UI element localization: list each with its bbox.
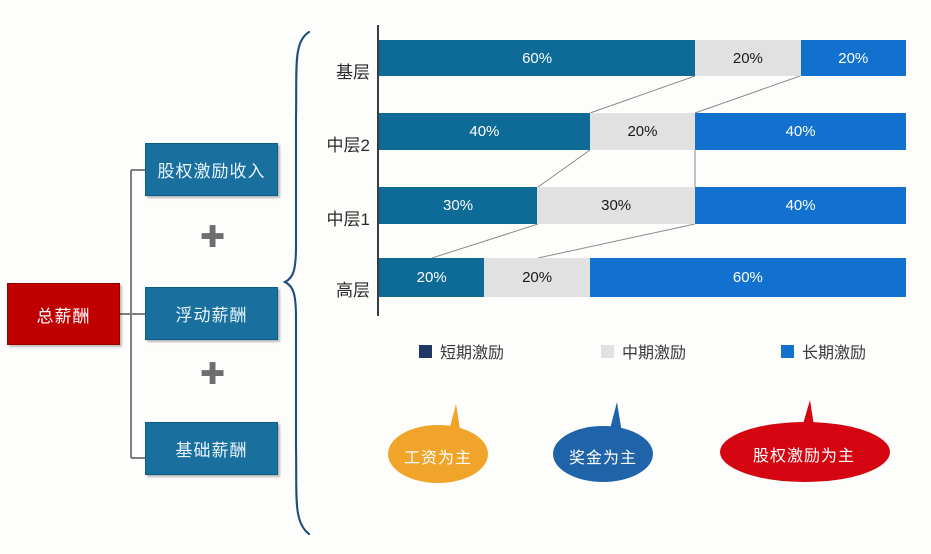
chart-category-label-0: 基层 xyxy=(310,58,370,83)
legend-item-short-term[interactable]: 短期激励 xyxy=(419,339,601,363)
legend-label-short-term: 短期激励 xyxy=(440,339,504,363)
node-base-salary[interactable]: 基础薪酬 xyxy=(145,422,278,475)
chart-segment-short-0: 60% xyxy=(379,40,695,76)
chart-category-label-3: 高层 xyxy=(310,276,370,301)
plus-icon-upper: ✚ xyxy=(200,223,225,253)
legend-label-mid-term: 中期激励 xyxy=(622,339,686,363)
callout-salary-dominant-shape xyxy=(380,392,500,492)
chart-segment-short-2: 30% xyxy=(379,187,537,224)
chart-segment-value: 40% xyxy=(786,123,816,140)
callout-equity-dominant-shape xyxy=(718,392,898,492)
chart-segment-long-3: 60% xyxy=(590,258,906,297)
chart-bar-row-2: 30% 30% 40% xyxy=(379,187,906,224)
chart-segment-long-1: 40% xyxy=(695,113,906,150)
legend-label-long-term: 长期激励 xyxy=(802,339,866,363)
legend-item-long-term[interactable]: 长期激励 xyxy=(781,339,866,363)
node-total-compensation-label: 总薪酬 xyxy=(37,302,91,327)
callout-bonus-dominant-shape xyxy=(545,392,665,492)
chart-category-label-1: 中层2 xyxy=(310,131,370,156)
chart-segment-mid-0: 20% xyxy=(695,40,800,76)
node-equity-incentive-income-label: 股权激励收入 xyxy=(158,157,266,182)
chart-segment-value: 40% xyxy=(786,197,816,214)
chart-segment-long-0: 20% xyxy=(801,40,906,76)
chart-segment-value: 20% xyxy=(417,269,447,286)
node-total-compensation[interactable]: 总薪酬 xyxy=(7,283,120,345)
chart-segment-value: 20% xyxy=(627,123,657,140)
callout-bonus-dominant[interactable]: 奖金为主 xyxy=(545,392,665,492)
slide-canvas: 总薪酬 股权激励收入 ✚ 浮动薪酬 ✚ 基础薪酬 基层 xyxy=(0,0,931,554)
chart-bar-row-1: 40% 20% 40% xyxy=(379,113,906,150)
chart-category-label-2: 中层1 xyxy=(310,205,370,230)
chart-segment-mid-2: 30% xyxy=(537,187,695,224)
chart-bar-row-0: 60% 20% 20% xyxy=(379,40,906,76)
legend-item-mid-term[interactable]: 中期激励 xyxy=(601,339,781,363)
chart-legend: 短期激励 中期激励 长期激励 xyxy=(419,340,889,362)
node-floating-salary[interactable]: 浮动薪酬 xyxy=(145,287,278,340)
chart-segment-value: 30% xyxy=(443,197,473,214)
node-floating-salary-label: 浮动薪酬 xyxy=(176,301,248,326)
node-equity-incentive-income[interactable]: 股权激励收入 xyxy=(145,143,278,196)
chart-segment-value: 60% xyxy=(733,269,763,286)
legend-swatch-short-term-icon xyxy=(419,345,432,358)
callout-salary-dominant[interactable]: 工资为主 xyxy=(380,392,500,492)
chart-segment-value: 20% xyxy=(733,50,763,67)
chart-segment-short-3: 20% xyxy=(379,258,484,297)
chart-segment-mid-3: 20% xyxy=(484,258,589,297)
plus-icon-lower: ✚ xyxy=(200,360,225,390)
chart-segment-value: 60% xyxy=(522,50,552,67)
chart-bar-row-3: 20% 20% 60% xyxy=(379,258,906,297)
legend-swatch-long-term-icon xyxy=(781,345,794,358)
chart-segment-short-1: 40% xyxy=(379,113,590,150)
chart-segment-value: 40% xyxy=(469,123,499,140)
chart-area: 基层 60% 20% 20% 中层2 40% 20% 40% xyxy=(320,18,920,323)
legend-swatch-mid-term-icon xyxy=(601,345,614,358)
chart-segment-value: 20% xyxy=(838,50,868,67)
callout-equity-dominant[interactable]: 股权激励为主 xyxy=(718,392,898,492)
chart-segment-mid-1: 20% xyxy=(590,113,695,150)
chart-segment-value: 20% xyxy=(522,269,552,286)
node-base-salary-label: 基础薪酬 xyxy=(176,436,248,461)
chart-segment-value: 30% xyxy=(601,197,631,214)
chart-segment-long-2: 40% xyxy=(695,187,906,224)
